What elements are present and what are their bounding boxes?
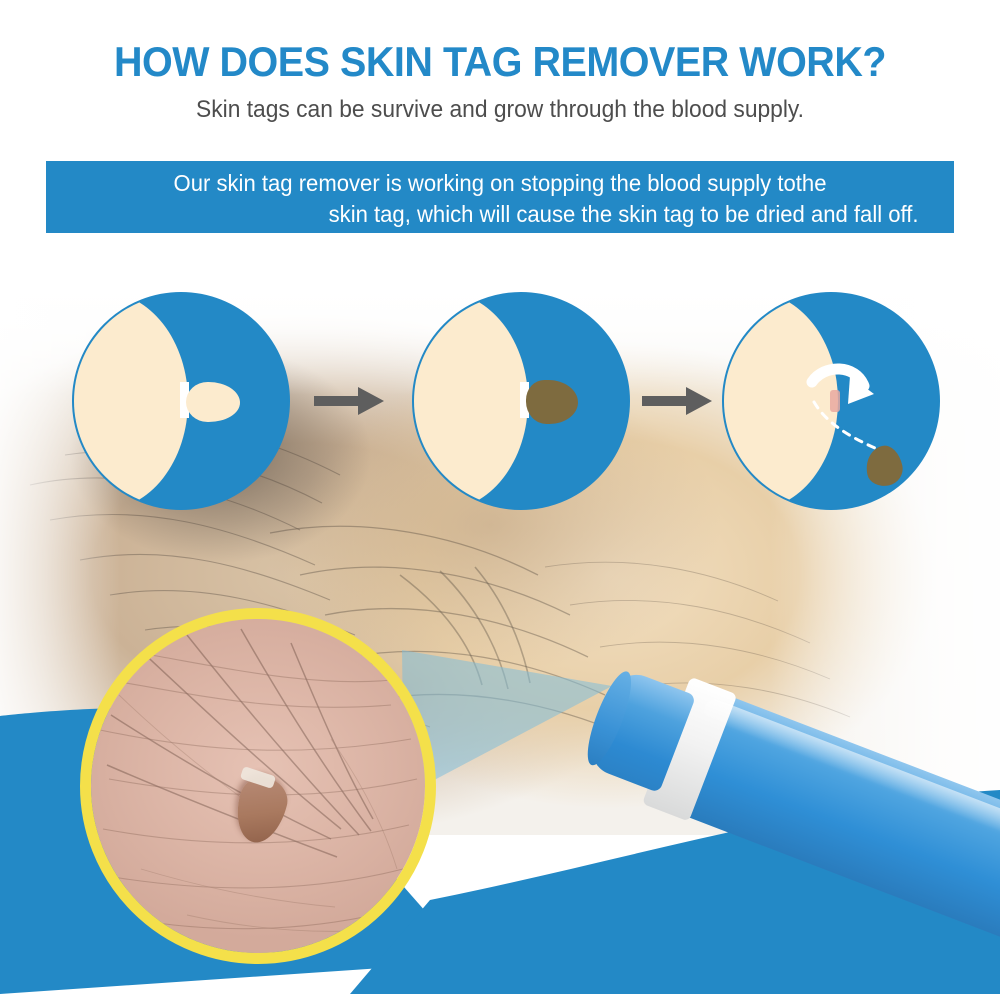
bottom-white-strip	[0, 994, 1000, 1000]
diagram-step-3	[722, 292, 940, 510]
skin-layer	[72, 292, 188, 510]
fall-off-indicator	[724, 294, 940, 510]
infographic-page: HOW DOES SKIN TAG REMOVER WORK? Skin tag…	[0, 0, 1000, 1000]
skin-tag-healthy	[186, 382, 240, 422]
skin-layer	[412, 292, 528, 510]
explanation-banner: Our skin tag remover is working on stopp…	[46, 161, 954, 233]
magnifier	[80, 608, 436, 964]
banner-line-1: Our skin tag remover is working on stopp…	[78, 168, 923, 199]
step-arrow-2-icon	[640, 384, 714, 418]
magnifier-ring	[80, 608, 436, 964]
diagram-step-2	[412, 292, 630, 510]
page-title: HOW DOES SKIN TAG REMOVER WORK?	[30, 38, 970, 86]
page-subtitle: Skin tags can be survive and grow throug…	[25, 96, 975, 124]
step-arrow-1-icon	[312, 384, 386, 418]
banner-line-2: skin tag, which will cause the skin tag …	[78, 199, 923, 230]
trajectory-dashed-line	[814, 402, 884, 452]
diagram-step-1	[72, 292, 290, 510]
skin-tag-dried	[526, 380, 578, 424]
